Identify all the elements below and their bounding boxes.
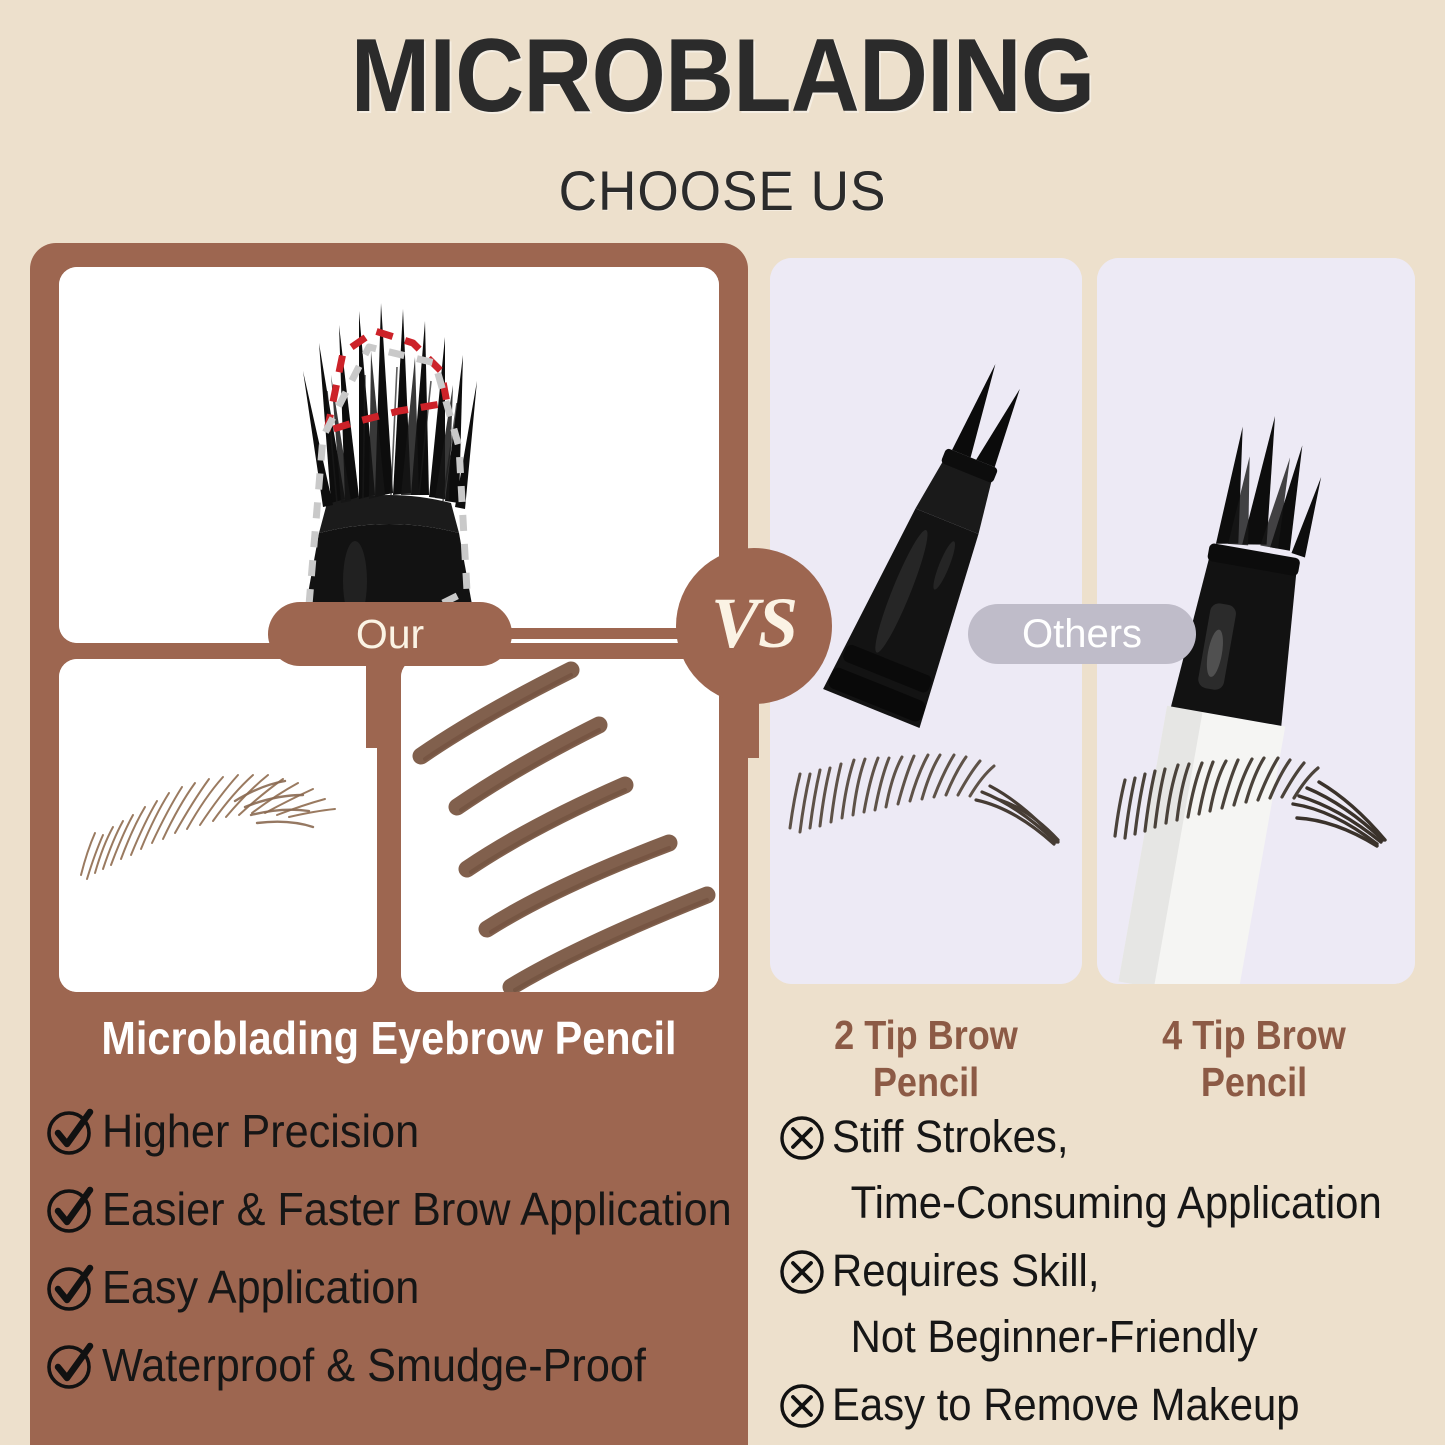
feature-label: Higher Precision (102, 1102, 419, 1160)
our-eyebrow-result-image (59, 659, 377, 992)
drawback-text: Requires Skill, Not Beginner-Friendly (832, 1238, 1290, 1370)
our-feature-list: Higher Precision Easier & Faster Brow Ap… (44, 1102, 744, 1414)
our-pill-badge: Our (268, 602, 512, 666)
four-tip-brow-result-illustration (1097, 700, 1415, 1000)
vs-badge-label: VS (711, 587, 797, 659)
our-pill-label: Our (356, 611, 424, 658)
others-pill-badge: Others (968, 604, 1196, 664)
competitor-drawback-list: Stiff Strokes, Time-Consuming Applicatio… (778, 1104, 1418, 1440)
drawback-line-2: Not Beginner-Friendly (832, 1304, 1258, 1370)
our-product-name: Microblading Eyebrow Pencil (66, 1011, 712, 1065)
competitor-2-product-name: 4 Tip Brow Pencil (1113, 1012, 1395, 1106)
two-tip-brow-result-illustration (770, 700, 1082, 1000)
feature-item: Waterproof & Smudge-Proof (44, 1336, 744, 1394)
drawback-line-1: Stiff Strokes, (832, 1104, 1382, 1170)
check-circle-icon (44, 1183, 96, 1235)
page-subtitle: CHOOSE US (36, 158, 1409, 223)
x-circle-icon (778, 1382, 826, 1430)
feature-label: Easy Application (102, 1258, 419, 1316)
feature-item: Easier & Faster Brow Application (44, 1180, 744, 1238)
x-circle-icon (778, 1114, 826, 1162)
vs-badge: VS (676, 548, 832, 704)
feature-item: Easy Application (44, 1258, 744, 1316)
page-title: MICROBLADING (58, 22, 1387, 131)
check-circle-icon (44, 1339, 96, 1391)
feature-label: Easier & Faster Brow Application (102, 1180, 732, 1238)
eyebrow-result-illustration (59, 659, 377, 992)
our-stroke-swatches-image (401, 659, 719, 992)
microblading-brush-tip-image (59, 267, 719, 643)
drawback-item: Requires Skill, Not Beginner-Friendly (778, 1238, 1418, 1370)
drawback-line-2: Time-Consuming Application (832, 1170, 1382, 1236)
stroke-swatch-illustration (401, 659, 719, 992)
x-circle-icon (778, 1248, 826, 1296)
feature-label: Waterproof & Smudge-Proof (102, 1336, 646, 1394)
header: MICROBLADING CHOOSE US (0, 0, 1445, 228)
feature-item: Higher Precision (44, 1102, 744, 1160)
brush-tip-illustration (59, 267, 719, 643)
check-circle-icon (44, 1261, 96, 1313)
competitor-1-product-name: 2 Tip Brow Pencil (785, 1012, 1067, 1106)
drawback-line-1: Requires Skill, (832, 1238, 1258, 1304)
check-circle-icon (44, 1105, 96, 1157)
drawback-text: Stiff Strokes, Time-Consuming Applicatio… (832, 1104, 1423, 1236)
drawback-item: Easy to Remove Makeup (778, 1372, 1418, 1438)
drawback-item: Stiff Strokes, Time-Consuming Applicatio… (778, 1104, 1418, 1236)
drawback-line-1: Easy to Remove Makeup (832, 1372, 1300, 1438)
infographic-canvas: MICROBLADING CHOOSE US (0, 0, 1445, 1445)
drawback-text: Easy to Remove Makeup (832, 1372, 1335, 1438)
others-pill-label: Others (1022, 612, 1142, 657)
